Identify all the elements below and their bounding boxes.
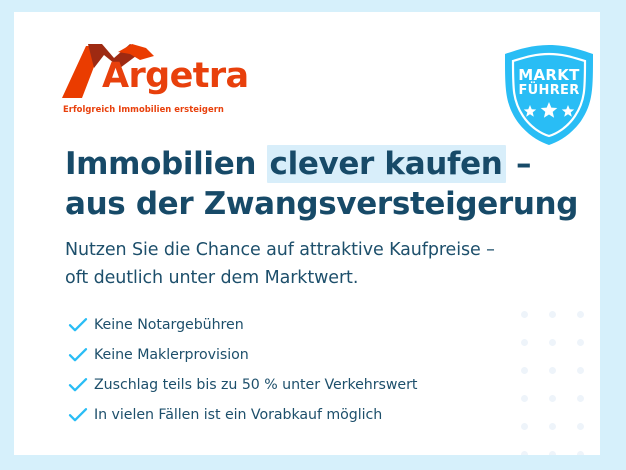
decorative-dot <box>549 451 556 455</box>
headline-line-2: aus der Zwangsversteigerung <box>65 185 578 225</box>
logo-tagline: Erfolgreich Immobilien ersteigern <box>63 104 224 114</box>
headline-highlight: clever kaufen <box>267 145 506 183</box>
decorative-dot <box>549 395 556 402</box>
decorative-dot <box>549 311 556 318</box>
decorative-dot <box>521 451 528 455</box>
argetra-logo[interactable]: Argetra Erfolgreich Immobilien ersteiger… <box>58 42 258 128</box>
decorative-dot <box>549 367 556 374</box>
decorative-dot <box>521 367 528 374</box>
decorative-dot <box>577 339 584 346</box>
decorative-dot <box>577 367 584 374</box>
headline: Immobilien clever kaufen – aus der Zwang… <box>65 145 578 225</box>
headline-part-1: Immobilien <box>65 146 267 182</box>
list-item: In vielen Fällen ist ein Vorabkauf mögli… <box>68 400 538 430</box>
decorative-dot <box>549 423 556 430</box>
subheading-line-1: Nutzen Sie die Chance auf attraktive Kau… <box>65 236 495 264</box>
list-item: Zuschlag teils bis zu 50 % unter Verkehr… <box>68 370 538 400</box>
check-icon <box>68 407 94 423</box>
list-item-label: Keine Maklerprovision <box>94 347 249 363</box>
decorative-dot <box>521 423 528 430</box>
subheading: Nutzen Sie die Chance auf attraktive Kau… <box>65 236 495 293</box>
decorative-dot <box>521 395 528 402</box>
decorative-dot <box>521 339 528 346</box>
decorative-dot <box>577 451 584 455</box>
decorative-dot <box>577 311 584 318</box>
benefit-list: Keine Notargebühren Keine Maklerprovisio… <box>68 310 538 430</box>
list-item-label: In vielen Fällen ist ein Vorabkauf mögli… <box>94 407 382 423</box>
market-leader-badge: MARKT FÜHRER <box>501 43 597 147</box>
check-icon <box>68 377 94 393</box>
list-item: Keine Notargebühren <box>68 310 538 340</box>
decorative-dot <box>549 339 556 346</box>
check-icon <box>68 317 94 333</box>
dot-grid-decoration <box>521 311 600 455</box>
check-icon <box>68 347 94 363</box>
logo-wordmark: Argetra <box>102 59 249 94</box>
promo-banner: Argetra Erfolgreich Immobilien ersteiger… <box>0 0 626 470</box>
list-item-label: Zuschlag teils bis zu 50 % unter Verkehr… <box>94 377 417 393</box>
list-item-label: Keine Notargebühren <box>94 317 244 333</box>
decorative-dot <box>521 311 528 318</box>
subheading-line-2: oft deutlich unter dem Marktwert. <box>65 264 495 292</box>
headline-line-1: Immobilien clever kaufen – <box>65 145 578 185</box>
headline-part-2: – <box>506 146 532 182</box>
banner-card: Argetra Erfolgreich Immobilien ersteiger… <box>14 12 600 455</box>
decorative-dot <box>577 395 584 402</box>
list-item: Keine Maklerprovision <box>68 340 538 370</box>
decorative-dot <box>577 423 584 430</box>
